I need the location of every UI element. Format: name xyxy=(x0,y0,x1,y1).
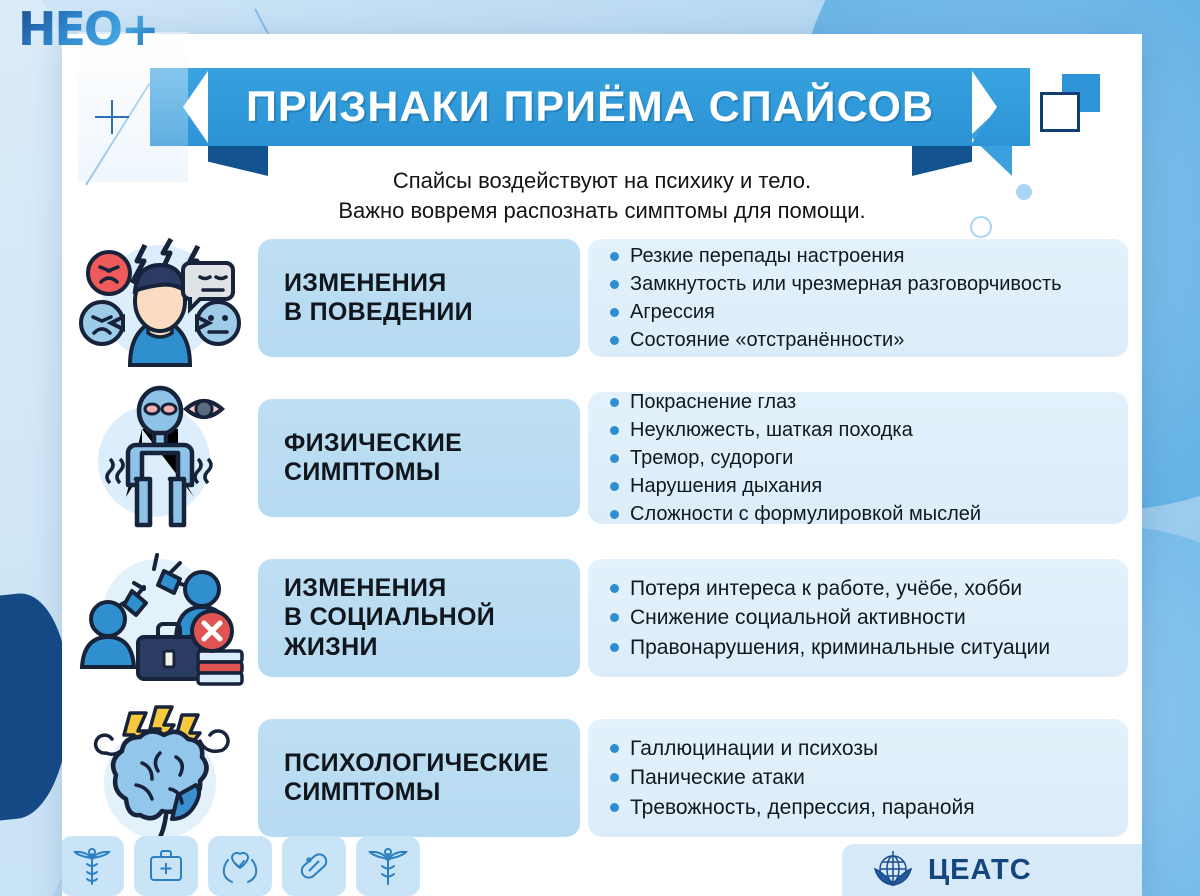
who-branding: ЦЕАТС xyxy=(842,844,1142,896)
bullet-dot xyxy=(610,252,619,261)
bullet-dot xyxy=(610,482,619,491)
list-item: Состояние «отстранённости» xyxy=(610,326,1128,354)
who-emblem-icon xyxy=(870,847,916,893)
list-item: Замкнутость или чрезмерная разговорчивос… xyxy=(610,270,1128,298)
list-item-label: Агрессия xyxy=(630,299,715,325)
list-item: Нарушения дыхания xyxy=(610,472,1128,500)
section-items-panel: Потеря интереса к работе, учёбе, хобби С… xyxy=(588,559,1128,677)
list-item-label: Снижение социальной активности xyxy=(630,604,966,631)
decor-square-outline xyxy=(1040,92,1080,132)
poster-footer: ЦЕАТС xyxy=(62,830,1142,896)
footer-icon-tiles xyxy=(62,836,420,896)
list-item: Правонарушения, криминальные ситуации xyxy=(610,633,1128,662)
list-item: Галлюцинации и психозы xyxy=(610,734,1128,763)
list-item: Резкие перепады настроения xyxy=(610,242,1128,270)
sections-list: ИЗМЕНЕНИЯ В ПОВЕДЕНИИ Резкие перепады на… xyxy=(62,222,1142,862)
section-title: ПСИХОЛОГИЧЕСКИЕ СИМПТОМЫ xyxy=(284,749,549,808)
section-row: ИЗМЕНЕНИЯ В ПОВЕДЕНИИ Резкие перепады на… xyxy=(62,222,1142,374)
caduceus-icon xyxy=(62,836,124,896)
page-subtitle: Спайсы воздействуют на психику и тело. В… xyxy=(62,166,1142,225)
first-aid-kit-icon xyxy=(134,836,198,896)
bullet-dot xyxy=(610,308,619,317)
section-title-panel: ПСИХОЛОГИЧЕСКИЕ СИМПТОМЫ xyxy=(258,719,580,837)
list-item-label: Тремор, судороги xyxy=(630,445,793,471)
list-item-label: Нарушения дыхания xyxy=(630,473,822,499)
list-item: Тревожность, депрессия, паранойя xyxy=(610,793,1128,822)
bullet-dot xyxy=(610,510,619,519)
pill-capsule-icon xyxy=(282,836,346,896)
poster-card: ПРИЗНАКИ ПРИЁМА СПАЙСОВ Спайсы воздейств… xyxy=(62,34,1142,896)
caduceus-wings-icon xyxy=(356,836,420,896)
list-item-label: Панические атаки xyxy=(630,764,805,791)
bullet-dot xyxy=(610,454,619,463)
section-title: ИЗМЕНЕНИЯ В ПОВЕДЕНИИ xyxy=(284,269,473,328)
list-item-label: Потеря интереса к работе, учёбе, хобби xyxy=(630,575,1022,602)
bullet-dot xyxy=(610,643,619,652)
list-item-label: Галлюцинации и психозы xyxy=(630,735,878,762)
section-title-panel: ФИЗИЧЕСКИЕ СИМПТОМЫ xyxy=(258,399,580,517)
section-title-panel: ИЗМЕНЕНИЯ В ПОВЕДЕНИИ xyxy=(258,239,580,357)
brand-logo[interactable]: HEO+ xyxy=(18,6,158,52)
section-row: ФИЗИЧЕСКИЕ СИМПТОМЫ Покраснение глаз Неу… xyxy=(62,382,1142,534)
crosshair-icon xyxy=(95,100,129,134)
list-item-label: Замкнутость или чрезмерная разговорчивос… xyxy=(630,271,1062,297)
list-item-label: Сложности с формулировкой мыслей xyxy=(630,501,981,527)
list-item: Сложности с формулировкой мыслей xyxy=(610,500,1128,528)
bullet-dot xyxy=(610,280,619,289)
section-title: ИЗМЕНЕНИЯ В СОЦИАЛЬНОЙ ЖИЗНИ xyxy=(284,574,495,663)
list-item-label: Резкие перепады настроения xyxy=(630,243,904,269)
title-ribbon: ПРИЗНАКИ ПРИЁМА СПАЙСОВ xyxy=(150,62,1030,158)
list-item-label: Тревожность, депрессия, паранойя xyxy=(630,794,975,821)
who-label: ЦЕАТС xyxy=(928,854,1032,887)
section-items-panel: Резкие перепады настроения Замкнутость и… xyxy=(588,239,1128,357)
bullet-dot xyxy=(610,584,619,593)
ribbon-notch-right xyxy=(970,68,1030,146)
list-item-label: Покраснение глаз xyxy=(630,389,796,415)
list-item: Покраснение глаз xyxy=(610,388,1128,416)
broken-social-link-briefcase-icon xyxy=(62,543,258,693)
list-item-label: Неуклюжесть, шаткая походка xyxy=(630,417,913,443)
heart-in-hands-icon xyxy=(208,836,272,896)
trembling-body-red-eye-icon xyxy=(62,383,258,533)
bullet-dot xyxy=(610,613,619,622)
subtitle-line-2: Важно вовремя распознать симптомы для по… xyxy=(62,196,1142,226)
mood-swings-person-icon xyxy=(62,223,258,373)
list-item: Снижение социальной активности xyxy=(610,603,1128,632)
list-item: Потеря интереса к работе, учёбе, хобби xyxy=(610,574,1128,603)
bullet-dot xyxy=(610,336,619,345)
bullet-dot xyxy=(610,773,619,782)
section-items-panel: Галлюцинации и психозы Панические атаки … xyxy=(588,719,1128,837)
list-item-label: Правонарушения, криминальные ситуации xyxy=(630,634,1050,661)
section-row: ИЗМЕНЕНИЯ В СОЦИАЛЬНОЙ ЖИЗНИ Потеря инте… xyxy=(62,542,1142,694)
ribbon-body: ПРИЗНАКИ ПРИЁМА СПАЙСОВ xyxy=(208,68,972,146)
list-item: Панические атаки xyxy=(610,763,1128,792)
bullet-dot xyxy=(610,744,619,753)
list-item: Агрессия xyxy=(610,298,1128,326)
bullet-dot xyxy=(610,426,619,435)
list-item: Тремор, судороги xyxy=(610,444,1128,472)
section-title-panel: ИЗМЕНЕНИЯ В СОЦИАЛЬНОЙ ЖИЗНИ xyxy=(258,559,580,677)
list-item-label: Состояние «отстранённости» xyxy=(630,327,904,353)
section-title: ФИЗИЧЕСКИЕ СИМПТОМЫ xyxy=(284,429,462,488)
bullet-dot xyxy=(610,803,619,812)
page-title: ПРИЗНАКИ ПРИЁМА СПАЙСОВ xyxy=(246,83,934,132)
bullet-dot xyxy=(610,398,619,407)
section-items-panel: Покраснение глаз Неуклюжесть, шаткая пох… xyxy=(588,392,1128,524)
infographic-poster: HEO+ ПРИЗНАКИ ПРИЁМА СПАЙСОВ Спайсы возд… xyxy=(0,0,1200,896)
subtitle-line-1: Спайсы воздействуют на психику и тело. xyxy=(62,166,1142,196)
list-item: Неуклюжесть, шаткая походка xyxy=(610,416,1128,444)
